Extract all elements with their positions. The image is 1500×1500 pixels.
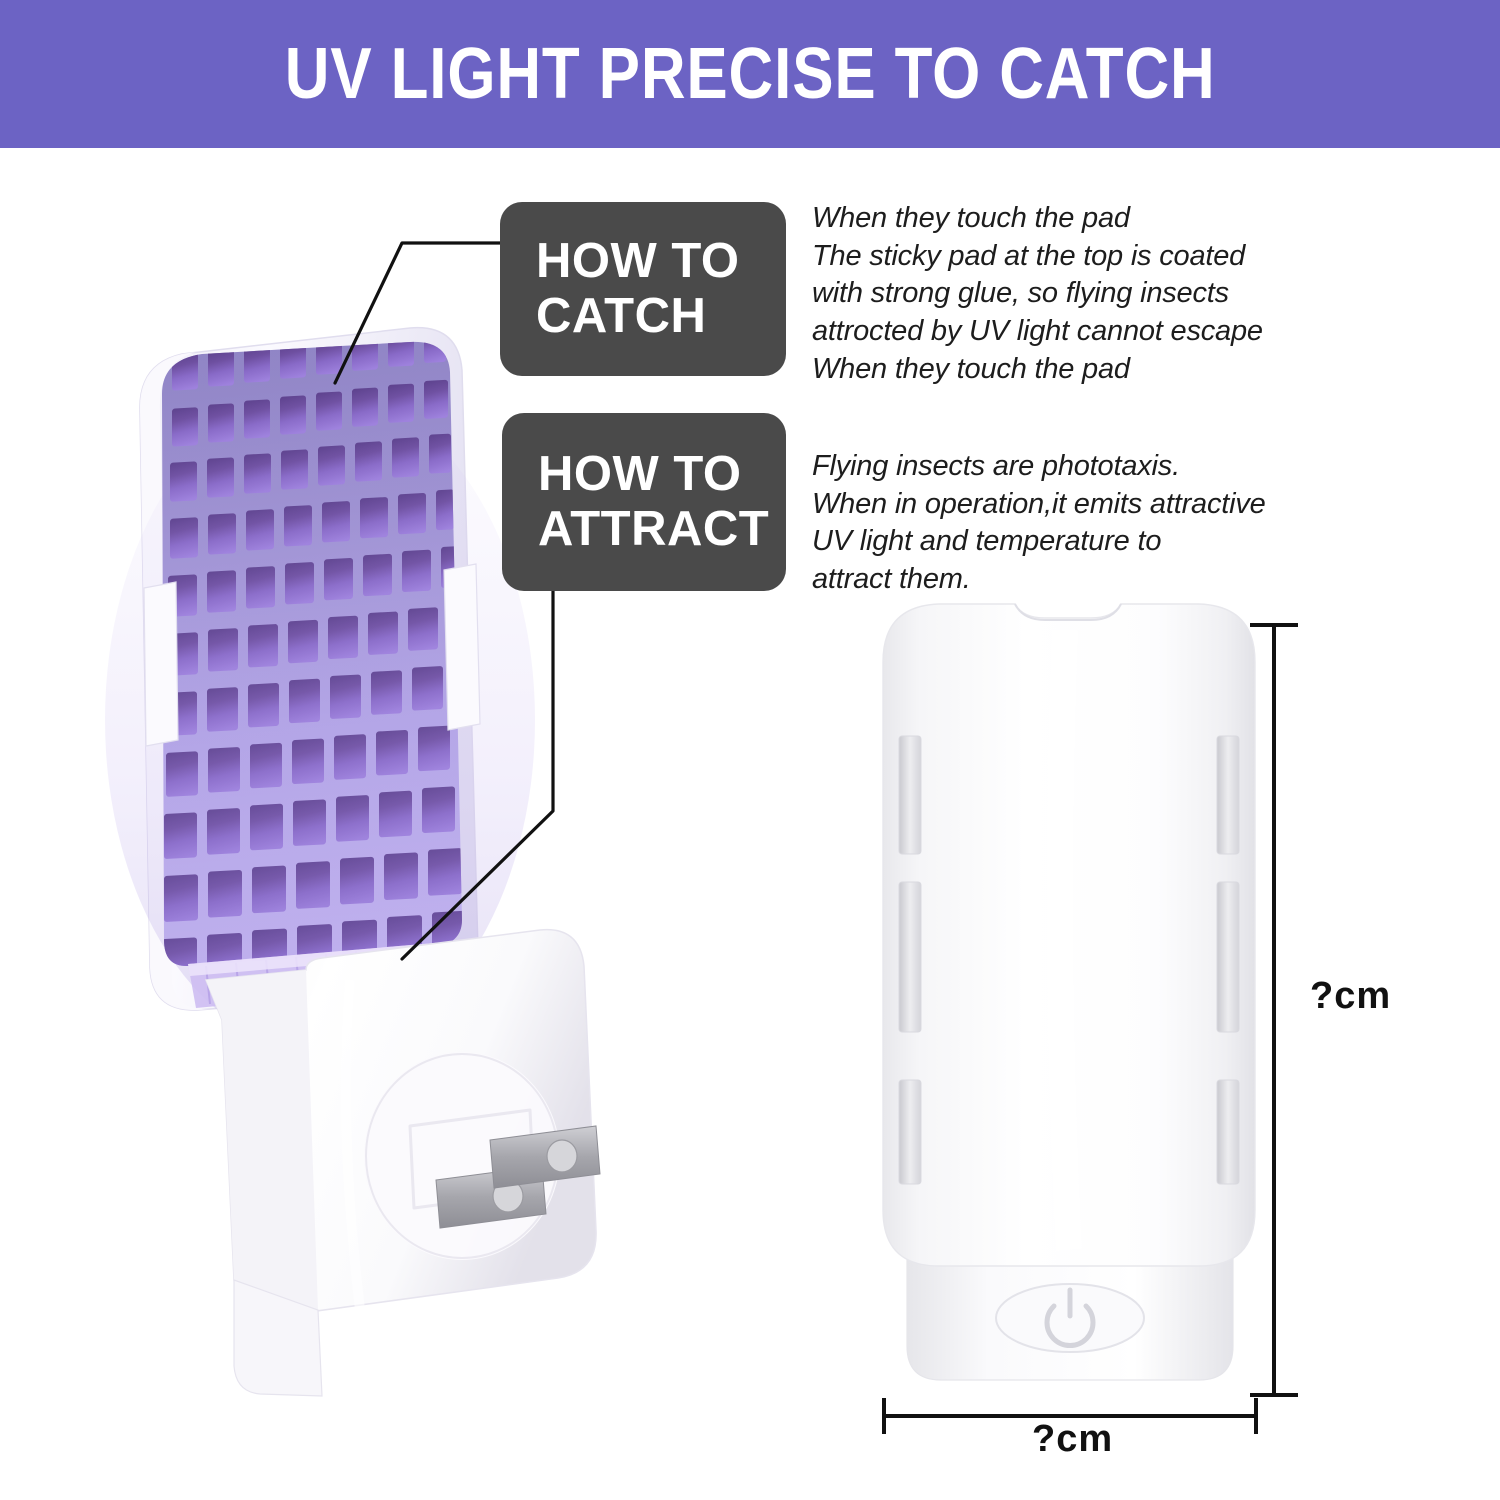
header-banner: UV LIGHT PRECISE TO CATCH <box>0 0 1500 148</box>
callout-box-how-to-catch[interactable]: HOW TO CATCH <box>500 202 786 376</box>
device-front-shell <box>883 604 1255 1266</box>
callout-attract-line2: ATTRACT <box>538 502 786 557</box>
callout-attract-line1: HOW TO <box>538 447 786 502</box>
dimension-width-label: ?cm <box>1032 1418 1113 1461</box>
page-title: UV LIGHT PRECISE TO CATCH <box>285 33 1216 115</box>
description-how-to-attract: Flying insects are phototaxis. When in o… <box>812 448 1452 599</box>
callout-catch-line2: CATCH <box>536 289 786 344</box>
leader-line-how-to-catch <box>330 238 510 388</box>
callout-box-how-to-attract[interactable]: HOW TO ATTRACT <box>502 413 786 591</box>
power-button[interactable] <box>996 1284 1144 1352</box>
product-image-closed-device <box>855 590 1285 1420</box>
description-how-to-catch: When they touch the pad The sticky pad a… <box>812 200 1432 388</box>
leader-line-how-to-attract <box>400 585 570 965</box>
vent-slots-right <box>1217 736 1239 1184</box>
callout-catch-line1: HOW TO <box>536 234 786 289</box>
dimension-height-label: ?cm <box>1310 975 1391 1018</box>
vent-slots-left <box>899 736 921 1184</box>
